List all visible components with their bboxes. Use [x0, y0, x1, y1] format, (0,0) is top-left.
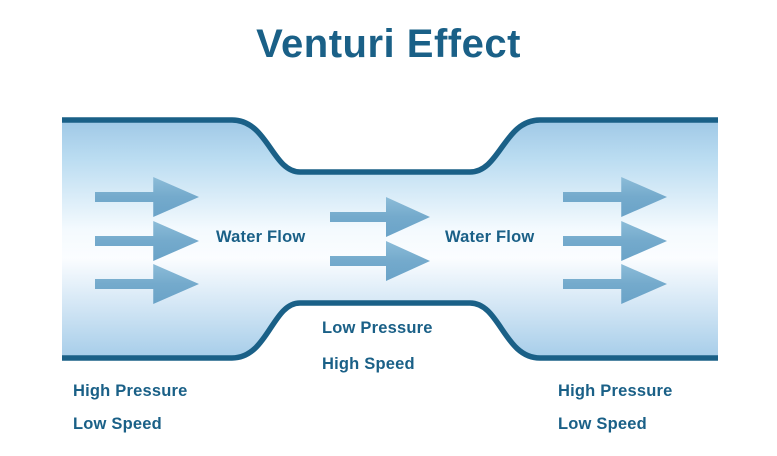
label-right-high-pressure: High Pressure — [558, 382, 672, 401]
arrow-group-outlet — [563, 177, 667, 304]
label-left-high-pressure: High Pressure — [73, 382, 187, 401]
label-left-low-speed: Low Speed — [73, 415, 162, 434]
label-throat-high-speed: High Speed — [322, 355, 415, 374]
label-water-flow-left: Water Flow — [216, 228, 305, 247]
label-throat-low-pressure: Low Pressure — [322, 319, 433, 338]
label-right-low-speed: Low Speed — [558, 415, 647, 434]
diagram-canvas: Venturi Effect — [0, 0, 777, 456]
arrow-group-inlet — [95, 177, 199, 304]
label-water-flow-right: Water Flow — [445, 228, 534, 247]
